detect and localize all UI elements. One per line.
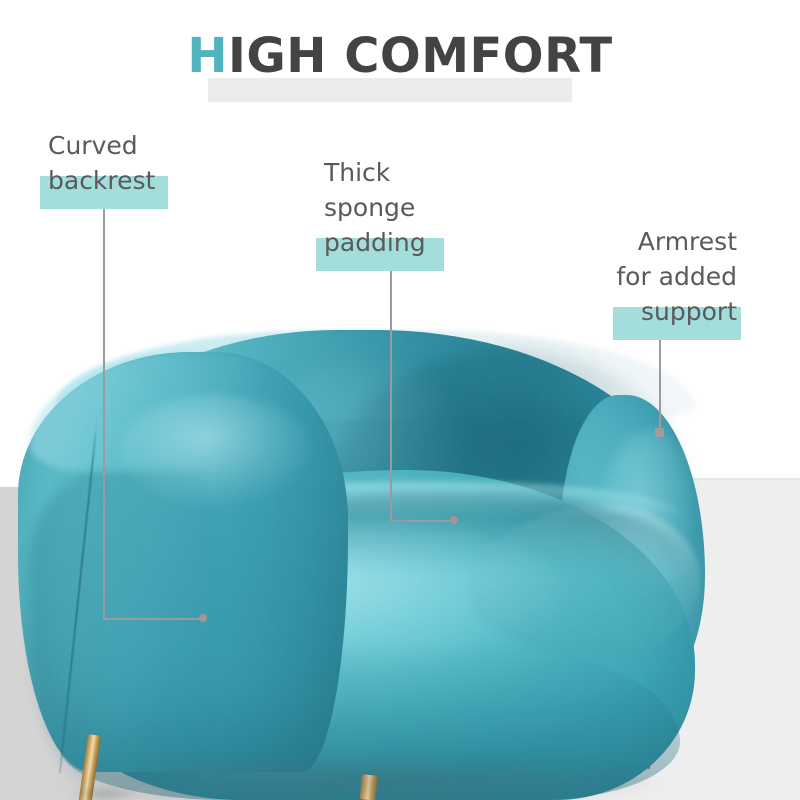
callout-label-curved-backrest: Curved backrest: [48, 128, 155, 198]
leader-line-curved-backrest-horizontal: [103, 618, 206, 620]
chair-armrest-left-shadow: [30, 470, 220, 780]
leader-dot-curved-backrest: [199, 614, 207, 622]
page-title-rest: IGH COMFORT: [228, 28, 613, 84]
callout-label-armrest-support: Armrest for added support: [613, 224, 737, 329]
gold-leg-left-shadow: [70, 786, 140, 800]
chair-floor-shadow: [60, 760, 660, 800]
leader-dot-sponge-padding: [450, 516, 458, 524]
page-title: HIGH COMFORT: [0, 28, 800, 84]
leader-dot-armrest: [655, 428, 664, 437]
leader-line-sponge-padding-vertical: [390, 271, 392, 521]
page-title-accent-letter: H: [187, 28, 228, 84]
leader-line-sponge-padding-horizontal: [390, 520, 456, 522]
leader-line-armrest-vertical: [659, 340, 661, 430]
leader-line-curved-backrest-vertical: [103, 209, 105, 619]
callout-label-sponge-padding: Thick sponge padding: [324, 155, 426, 260]
infographic-canvas: HIGH COMFORT Curved backrest Thick spong…: [0, 0, 800, 800]
product-image-teal-loveseat: [0, 0, 800, 800]
